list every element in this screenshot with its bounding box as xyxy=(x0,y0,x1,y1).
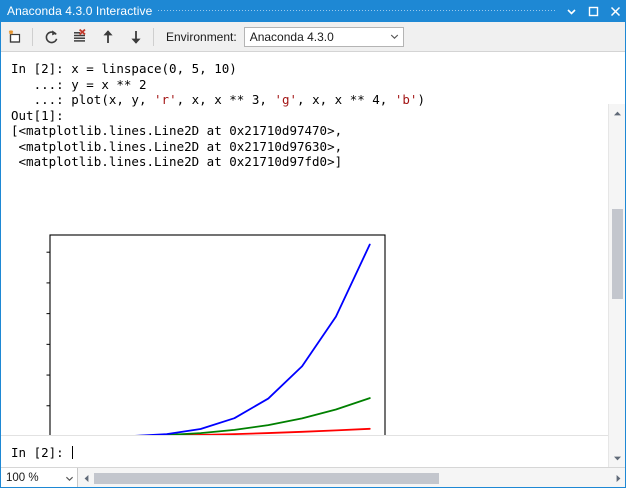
chevron-down-icon xyxy=(387,28,403,46)
interactive-console[interactable]: In [2]: x = linspace(0, 5, 10) ...: y = … xyxy=(0,52,626,435)
console-line-2: ...: plot(x, y, 'r', x, x ** 3, 'g', x, … xyxy=(11,92,425,107)
anaconda-interactive-window: Anaconda 4.3.0 Interactive xyxy=(0,0,626,488)
scroll-right-icon[interactable] xyxy=(610,468,626,488)
clear-all-icon[interactable] xyxy=(67,25,93,49)
status-bar: 100 % xyxy=(0,467,626,488)
zoom-level-value: 100 % xyxy=(0,472,61,484)
console-line-1: ...: y = x ** 2 xyxy=(11,77,146,92)
console-line-3: Out[1]: xyxy=(11,108,64,123)
zoom-level-select[interactable]: 100 % xyxy=(0,468,78,488)
console-line-5: <matplotlib.lines.Line2D at 0x21710d9763… xyxy=(11,139,342,154)
input-prompt-line: In [2]: xyxy=(0,436,608,460)
reset-icon[interactable] xyxy=(39,25,65,49)
console-content: In [2]: x = linspace(0, 5, 10) ...: y = … xyxy=(0,52,608,435)
console-line-0: In [2]: x = linspace(0, 5, 10) xyxy=(11,61,237,76)
close-window-icon[interactable] xyxy=(604,0,626,22)
window-menu-dropdown-icon[interactable] xyxy=(560,0,582,22)
input-prompt-area[interactable]: In [2]: xyxy=(0,435,608,467)
scroll-down-icon[interactable] xyxy=(609,449,626,467)
chevron-down-icon xyxy=(61,474,77,483)
environment-select[interactable]: Anaconda 4.3.0 xyxy=(244,27,404,47)
text-caret xyxy=(72,446,73,459)
toolbar-separator-2 xyxy=(153,28,154,46)
horizontal-scrollbar-thumb[interactable] xyxy=(94,473,439,484)
console-code-block: In [2]: x = linspace(0, 5, 10) ...: y = … xyxy=(0,52,608,170)
title-bar: Anaconda 4.3.0 Interactive xyxy=(0,0,626,22)
history-previous-icon[interactable] xyxy=(95,25,121,49)
window-title: Anaconda 4.3.0 Interactive xyxy=(0,0,152,22)
toolbar: Environment: Anaconda 4.3.0 xyxy=(0,22,626,52)
horizontal-scrollbar[interactable] xyxy=(78,468,626,488)
environment-label: Environment: xyxy=(166,30,237,44)
scroll-up-icon[interactable] xyxy=(609,104,626,122)
vertical-scrollbar-footer[interactable] xyxy=(608,435,626,467)
console-line-6: <matplotlib.lines.Line2D at 0x21710d97fd… xyxy=(11,154,342,169)
string-literal-g: 'g' xyxy=(274,92,297,107)
scroll-left-icon[interactable] xyxy=(78,468,94,488)
matplotlib-figure: 0100200300400500600 012345 xyxy=(45,230,390,435)
new-interactive-window-icon[interactable] xyxy=(2,25,28,49)
plot-call-text: plot(x, y, 'r', x, x ** 3, 'g', x, x ** … xyxy=(71,92,425,107)
horizontal-scrollbar-track[interactable] xyxy=(94,468,610,488)
environment-select-value: Anaconda 4.3.0 xyxy=(245,30,387,44)
console-line-4: [<matplotlib.lines.Line2D at 0x21710d974… xyxy=(11,123,342,138)
plot-canvas: 0100200300400500600 012345 xyxy=(45,230,390,435)
title-bar-grip xyxy=(158,0,556,22)
toolbar-separator-1 xyxy=(32,28,33,46)
string-literal-b: 'b' xyxy=(395,92,418,107)
vertical-scrollbar[interactable] xyxy=(608,104,626,435)
string-literal-r: 'r' xyxy=(154,92,177,107)
history-next-icon[interactable] xyxy=(123,25,149,49)
vertical-scrollbar-thumb[interactable] xyxy=(612,209,623,299)
prompt-label: In [2]: xyxy=(11,445,71,460)
float-window-icon[interactable] xyxy=(582,0,604,22)
